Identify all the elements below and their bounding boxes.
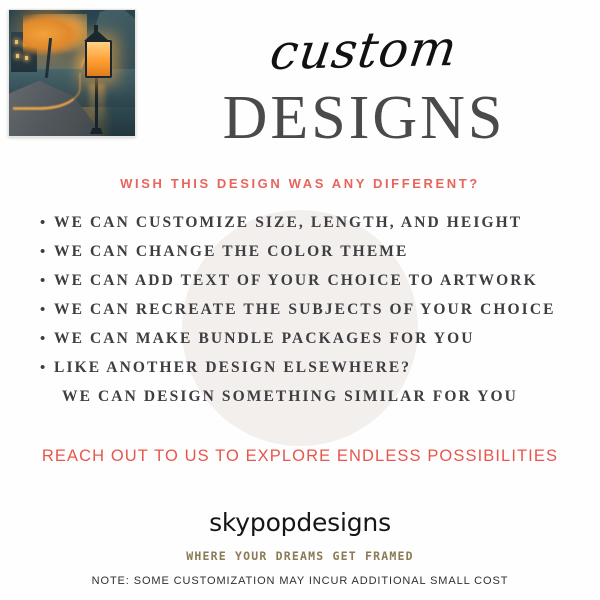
list-item-label: WE CAN MAKE BUNDLE PACKAGES FOR YOU (54, 330, 475, 348)
list-item-label: LIKE ANOTHER DESIGN ELSEWHERE? (54, 359, 411, 377)
headline-block: custom DESIGNS (140, 16, 588, 149)
footnote-text: NOTE: SOME CUSTOMIZATION MAY INCUR ADDIT… (0, 575, 600, 587)
artwork-window (25, 56, 28, 60)
brand-tagline: WHERE YOUR DREAMS GET FRAMED (0, 549, 600, 563)
list-item: • WE CAN ADD TEXT OF YOUR CHOICE TO ARTW… (40, 272, 580, 301)
list-item: • WE CAN RECREATE THE SUBJECTS OF YOUR C… (40, 301, 580, 330)
list-item-label: WE CAN CHANGE THE COLOR THEME (54, 243, 408, 261)
list-item-continuation: WE CAN DESIGN SOMETHING SIMILAR FOR YOU (40, 388, 580, 417)
list-item: • WE CAN CUSTOMIZE SIZE, LENGTH, AND HEI… (40, 214, 580, 243)
artwork-lamp-lantern (85, 40, 112, 78)
benefits-list: • WE CAN CUSTOMIZE SIZE, LENGTH, AND HEI… (40, 214, 580, 417)
bullet-icon: • (40, 302, 54, 317)
subheadline: WISH THIS DESIGN WAS ANY DIFFERENT? (0, 176, 600, 191)
list-item-label: WE CAN ADD TEXT OF YOUR CHOICE TO ARTWOR… (54, 272, 538, 290)
custom-designs-poster: custom DESIGNS WISH THIS DESIGN WAS ANY … (0, 0, 600, 600)
artwork-tree-canopy (23, 14, 87, 56)
brand-logo-text: skypopdesigns (0, 508, 600, 537)
bullet-icon: • (40, 360, 54, 375)
list-item: • LIKE ANOTHER DESIGN ELSEWHERE? (40, 359, 580, 388)
list-item-label: WE CAN RECREATE THE SUBJECTS OF YOUR CHO… (54, 301, 556, 319)
bullet-icon: • (40, 244, 54, 259)
bullet-icon: • (40, 215, 54, 230)
list-item-label: WE CAN DESIGN SOMETHING SIMILAR FOR YOU (62, 388, 518, 406)
bullet-icon: • (40, 331, 54, 346)
artwork-window (15, 40, 18, 44)
artwork-window (16, 54, 19, 58)
list-item: • WE CAN MAKE BUNDLE PACKAGES FOR YOU (40, 330, 580, 359)
artwork-lamp-post (95, 72, 98, 132)
list-item-label: WE CAN CUSTOMIZE SIZE, LENGTH, AND HEIGH… (54, 214, 522, 232)
page-title: DESIGNS (140, 87, 588, 149)
headline-script-word: custom (136, 21, 592, 79)
product-artwork-thumbnail[interactable] (8, 9, 136, 137)
bullet-icon: • (40, 273, 54, 288)
call-to-action-text: REACH OUT TO US TO EXPLORE ENDLESS POSSI… (0, 447, 600, 466)
artwork-lamp-finial (94, 25, 98, 32)
list-item: • WE CAN CHANGE THE COLOR THEME (40, 243, 580, 272)
